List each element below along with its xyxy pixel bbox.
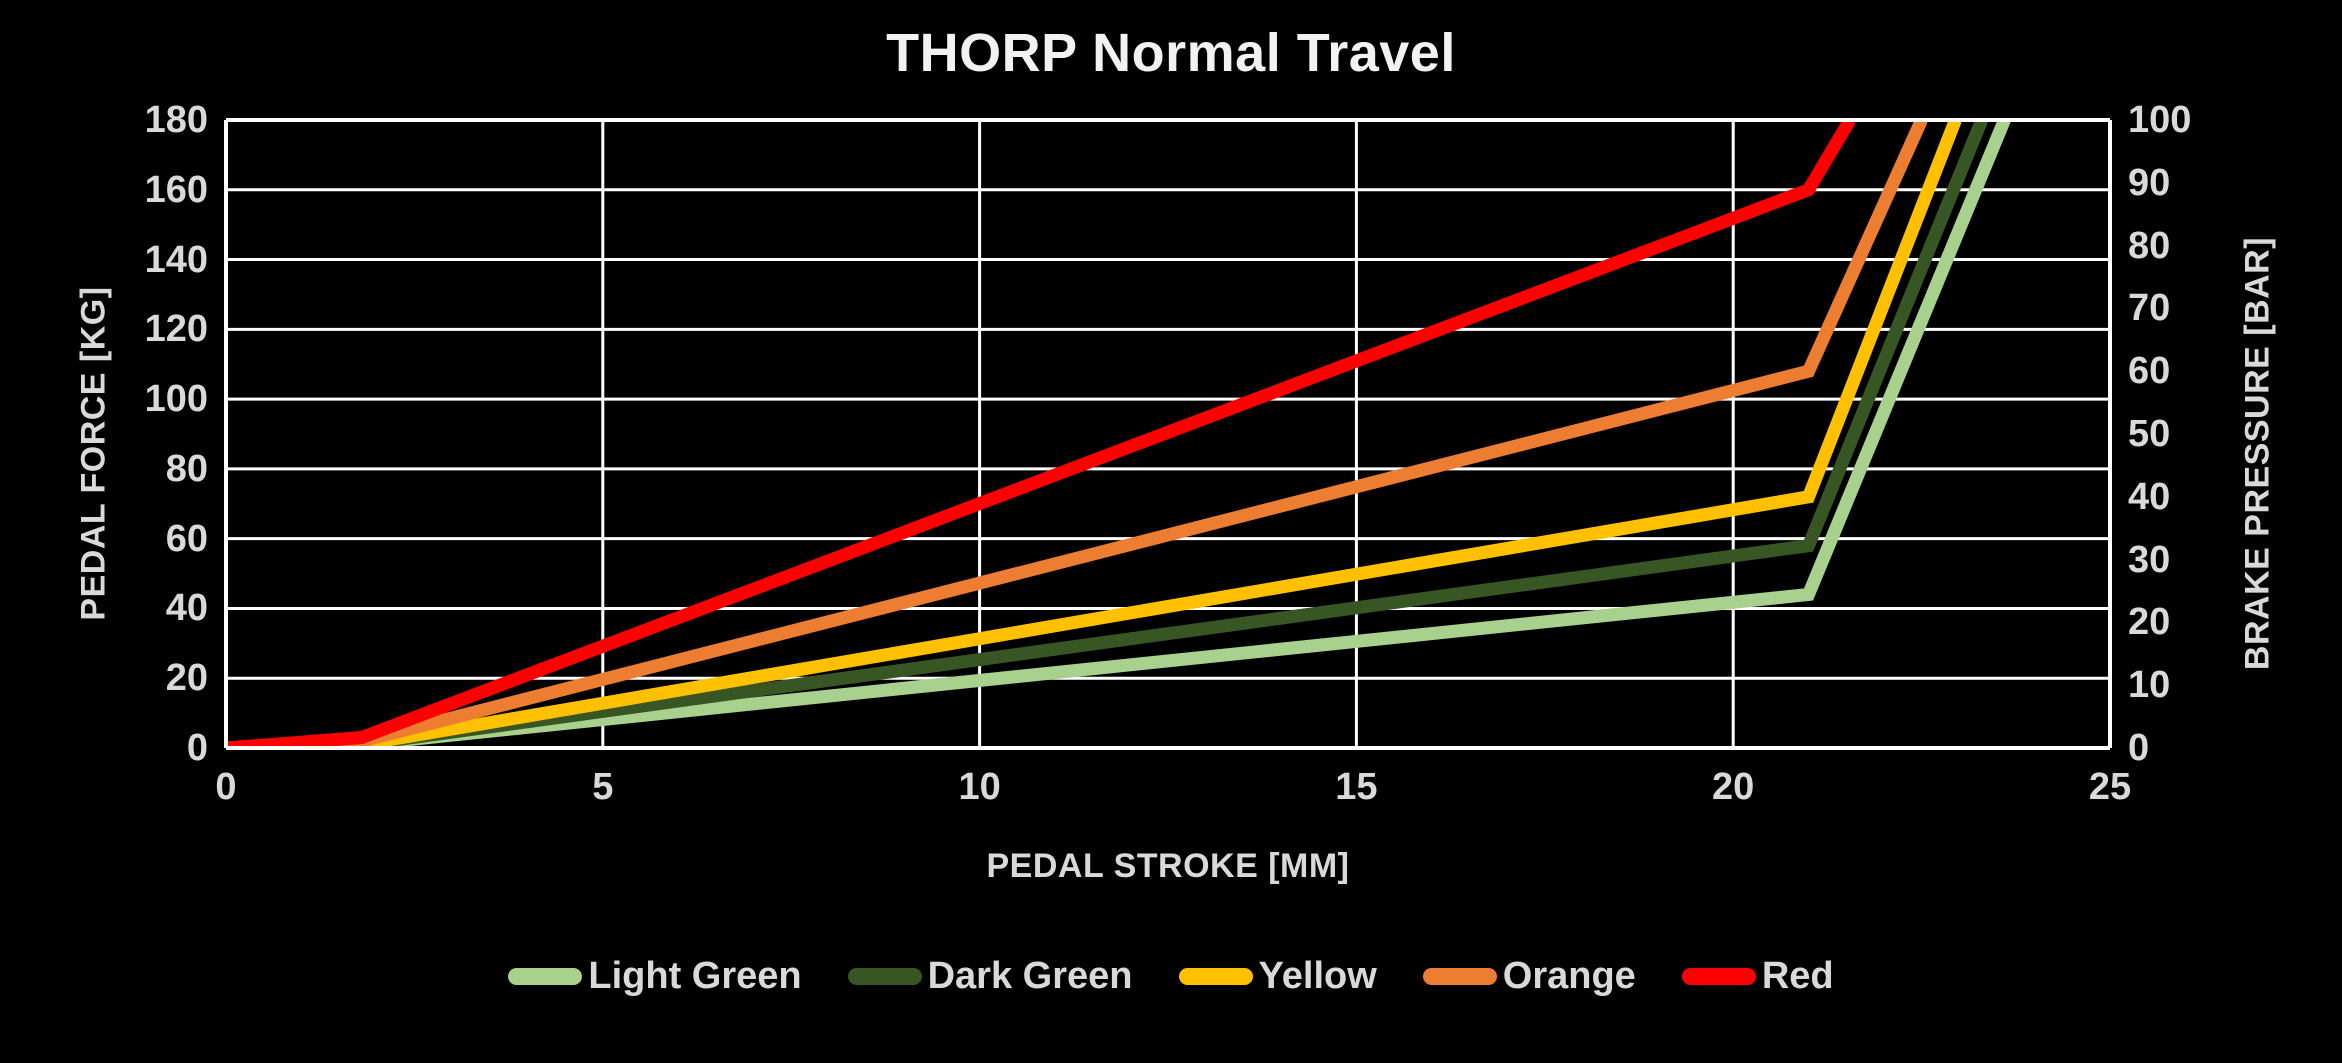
x-axis-tick-label: 25 (2089, 768, 2131, 806)
y-axis-right-tick-label: 10 (2128, 666, 2170, 704)
y-axis-right-tick-label: 40 (2128, 478, 2170, 516)
chart-legend: Light GreenDark GreenYellowOrangeRed (0, 955, 2342, 998)
legend-item-dark-green[interactable]: Dark Green (848, 955, 1133, 998)
x-axis-tick-label: 0 (215, 768, 236, 806)
series-line-yellow (226, 120, 1956, 748)
legend-swatch-icon (1423, 968, 1497, 985)
y-axis-left-tick-label: 120 (145, 310, 208, 348)
y-axis-left-tick-label: 20 (166, 659, 208, 697)
x-axis-tick-label: 10 (958, 768, 1000, 806)
series-line-dark-green (226, 120, 1982, 748)
y-axis-left-tick-label: 0 (187, 729, 208, 767)
x-axis-tick-label: 5 (592, 768, 613, 806)
legend-swatch-icon (1682, 968, 1756, 985)
legend-item-yellow[interactable]: Yellow (1179, 955, 1377, 998)
legend-item-light-green[interactable]: Light Green (508, 955, 801, 998)
chart-container: THORP Normal Travel 18016014012010080604… (0, 0, 2342, 1063)
y-axis-left-tick-label: 60 (166, 520, 208, 558)
y-axis-right-tick-label: 100 (2128, 101, 2191, 139)
plot-svg (226, 120, 2110, 748)
y-axis-right-tick-label: 50 (2128, 415, 2170, 453)
y-axis-left-tick-label: 140 (145, 241, 208, 279)
series-line-orange (226, 120, 1922, 748)
chart-title: THORP Normal Travel (0, 22, 2342, 84)
legend-label: Yellow (1259, 955, 1377, 998)
y-axis-right-title: BRAKE PRESSURE [BAR] (2239, 174, 2278, 734)
y-axis-left-tick-label: 80 (166, 450, 208, 488)
x-axis-tick-label: 15 (1335, 768, 1377, 806)
legend-swatch-icon (848, 968, 922, 985)
legend-item-red[interactable]: Red (1682, 955, 1834, 998)
y-axis-right-tick-label: 0 (2128, 729, 2149, 767)
y-axis-right-tick-label: 30 (2128, 541, 2170, 579)
y-axis-left-tick-label: 160 (145, 171, 208, 209)
y-axis-right-tick-label: 60 (2128, 352, 2170, 390)
y-axis-left-tick-label: 40 (166, 589, 208, 627)
y-axis-right-tick-label: 70 (2128, 289, 2170, 327)
x-axis-ticks: 0510152025 (226, 768, 2110, 818)
legend-item-orange[interactable]: Orange (1423, 955, 1636, 998)
x-axis-title: PEDAL STROKE [MM] (226, 847, 2110, 886)
plot-area (226, 120, 2110, 748)
series-lines (226, 120, 2004, 748)
legend-label: Light Green (588, 955, 801, 998)
y-axis-right-tick-label: 80 (2128, 227, 2170, 265)
legend-label: Orange (1503, 955, 1636, 998)
y-axis-right-tick-label: 20 (2128, 603, 2170, 641)
y-axis-left-tick-label: 100 (145, 380, 208, 418)
x-axis-tick-label: 20 (1712, 768, 1754, 806)
y-axis-left-title: PEDAL FORCE [KG] (75, 174, 114, 734)
legend-swatch-icon (1179, 968, 1253, 985)
y-axis-right-tick-label: 90 (2128, 164, 2170, 202)
y-axis-left-tick-label: 180 (145, 101, 208, 139)
legend-swatch-icon (508, 968, 582, 985)
legend-label: Dark Green (928, 955, 1133, 998)
legend-label: Red (1762, 955, 1834, 998)
